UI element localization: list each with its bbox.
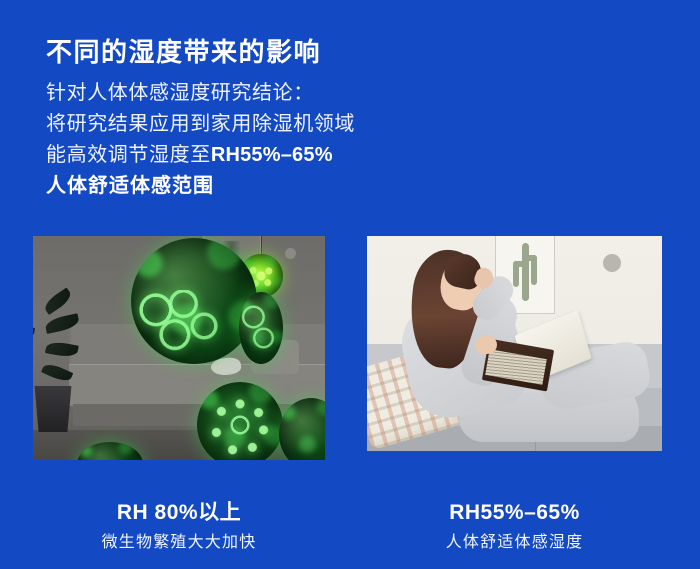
- body-line-2: 将研究结果应用到家用除湿机领域: [46, 109, 355, 140]
- cactus-stem: [522, 243, 529, 301]
- body-line-3: 能高效调节湿度至RH55%–65%: [46, 140, 355, 171]
- cactus-illustration-icon: [512, 243, 538, 301]
- photo-comfort-humidity: [367, 236, 662, 451]
- scene-dim-living-room: [33, 236, 325, 460]
- photo-high-humidity: [33, 236, 325, 460]
- body-copy: 针对人体体感湿度研究结论： 将研究结果应用到家用除湿机领域 能高效调节湿度至RH…: [46, 78, 355, 202]
- wall-knob-icon: [285, 248, 296, 259]
- body-line-3-prefix: 能高效调节湿度至: [46, 144, 211, 166]
- plant-leaf: [45, 340, 79, 358]
- microbe-sphere-floor-bottom-icon: [77, 442, 143, 460]
- plant-leaf: [41, 361, 73, 384]
- plant-pot: [33, 386, 73, 432]
- caption-subtitle: 人体舒适体感湿度: [367, 532, 662, 554]
- plant-leaf: [44, 313, 80, 334]
- poster-root: 不同的湿度带来的影响 针对人体体感湿度研究结论： 将研究结果应用到家用除湿机领域…: [0, 0, 700, 569]
- page-title: 不同的湿度带来的影响: [46, 36, 321, 69]
- scene-bright-living-room: [367, 236, 662, 451]
- plant-leaf: [33, 324, 35, 340]
- body-line-3-highlight: RH55%–65%: [211, 144, 333, 166]
- cactus-stem: [524, 255, 537, 261]
- wall-knob-icon: [603, 254, 621, 272]
- body-line-4: 人体舒适体感范围: [46, 171, 355, 202]
- caption-title: RH55%–65%: [367, 500, 662, 526]
- caption-title: RH 80%以上: [33, 500, 325, 526]
- potted-plant: [33, 296, 87, 436]
- microbe-sphere-floor-icon: [197, 382, 283, 460]
- caption-subtitle: 微生物繁殖大大加快: [33, 532, 325, 554]
- cactus-stem: [513, 261, 527, 267]
- caption-high-humidity: RH 80%以上 微生物繁殖大大加快: [33, 500, 325, 554]
- microbe-sphere-edge-icon: [239, 292, 283, 364]
- caption-comfort-humidity: RH55%–65% 人体舒适体感湿度: [367, 500, 662, 554]
- body-line-1: 针对人体体感湿度研究结论：: [46, 78, 355, 109]
- microbe-sphere-floor-right-icon: [279, 398, 325, 460]
